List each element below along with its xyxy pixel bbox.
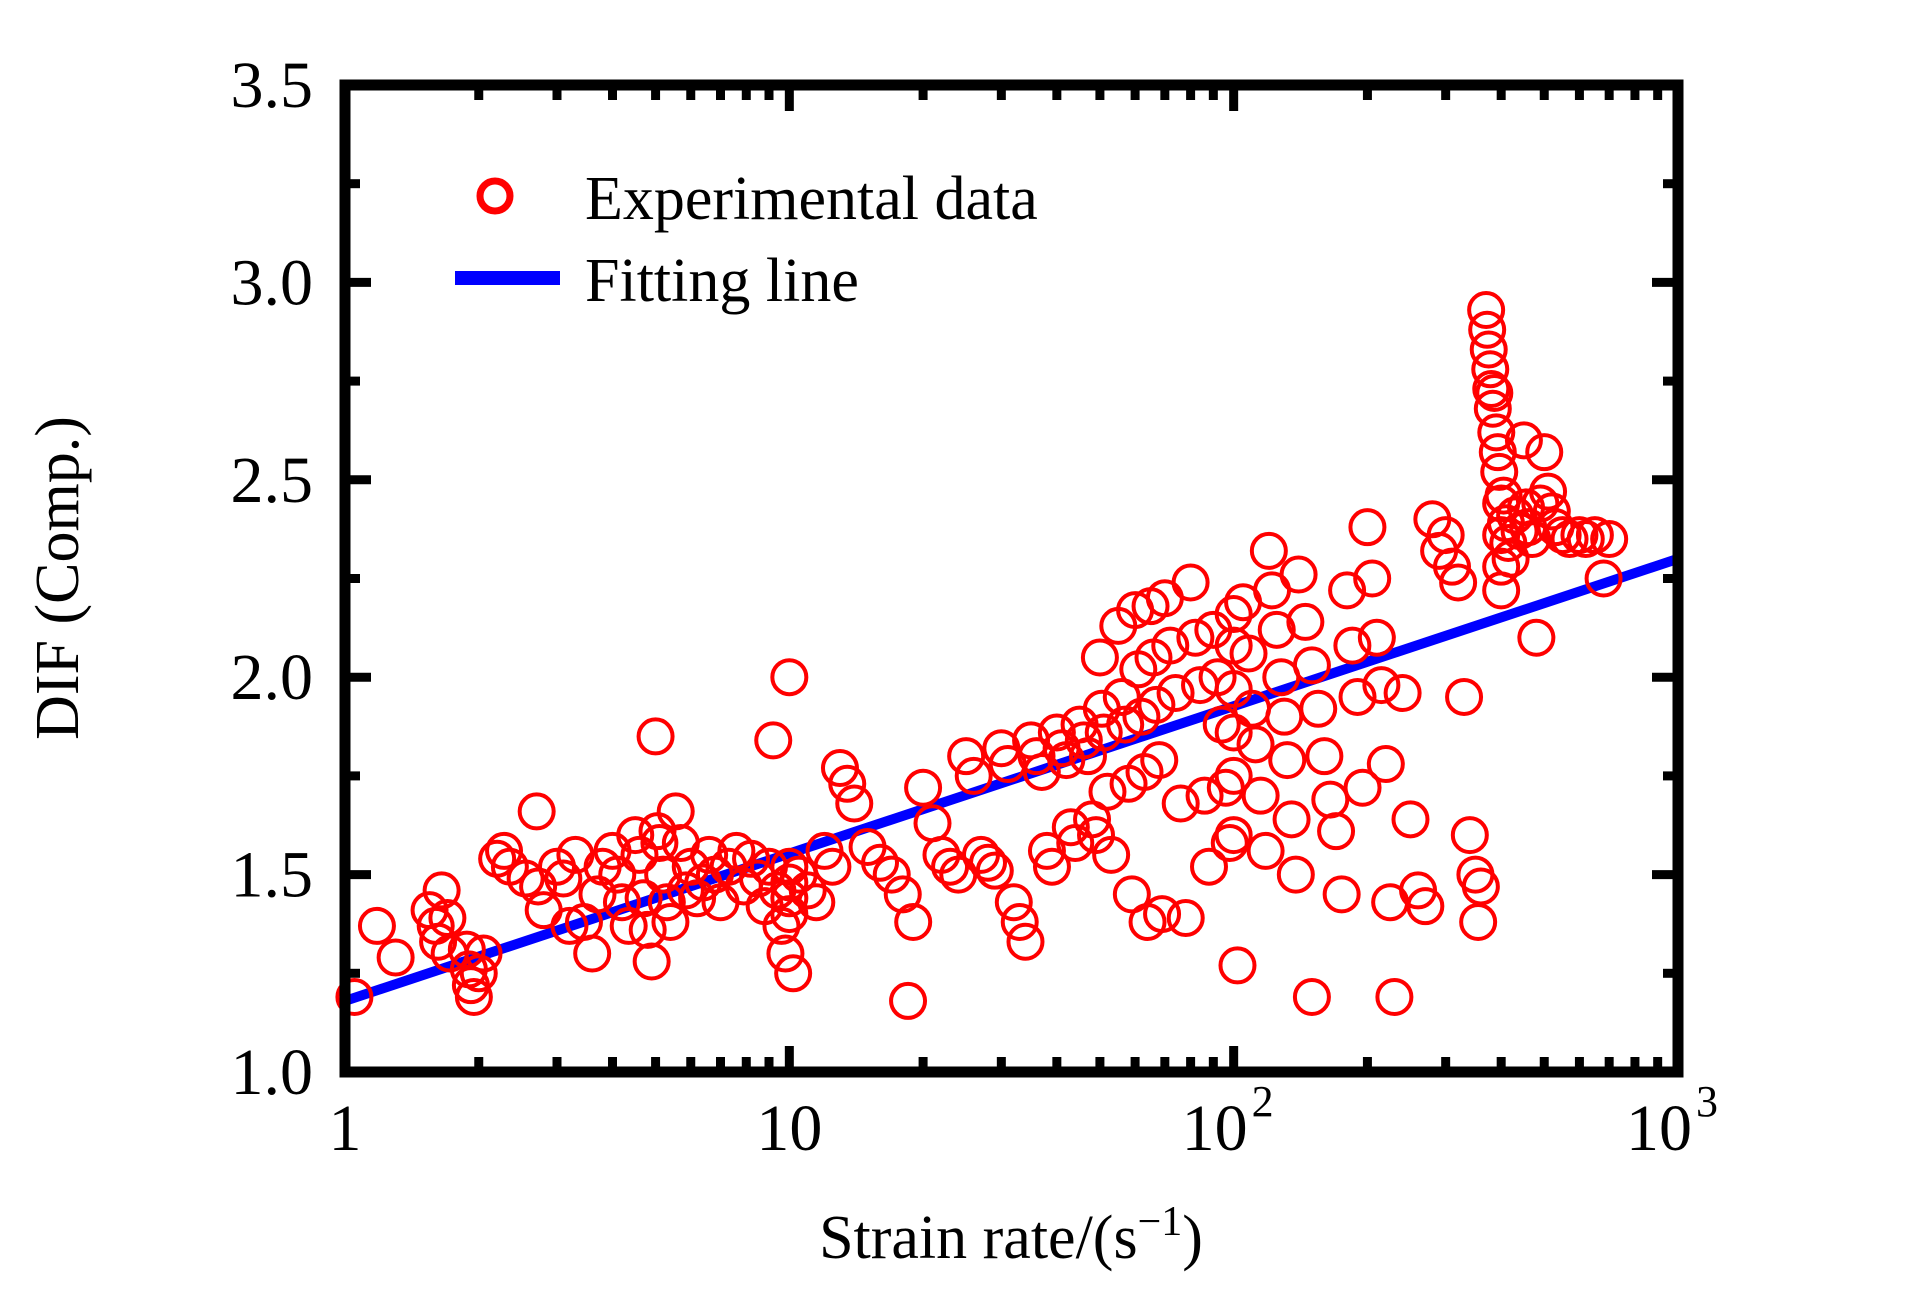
y-axis-title: DIF (Comp.) <box>24 416 92 740</box>
svg-text:2: 2 <box>1252 1077 1274 1126</box>
y-tick-label: 3.0 <box>231 246 314 319</box>
legend-label-fitting-line: Fitting line <box>585 247 859 315</box>
y-tick-label: 2.5 <box>231 444 314 517</box>
svg-text:3: 3 <box>1696 1077 1718 1126</box>
scatter-plot: 110210310 1.01.52.02.53.03.5 Strain rate… <box>0 0 1923 1299</box>
figure-container: 110210310 1.01.52.02.53.03.5 Strain rate… <box>0 0 1923 1299</box>
y-tick-label: 1.0 <box>231 1036 314 1109</box>
svg-text:10: 10 <box>756 1092 822 1165</box>
y-tick-label: 3.5 <box>231 49 314 122</box>
svg-text:1: 1 <box>329 1092 362 1165</box>
legend-label-experimental-data: Experimental data <box>585 165 1038 233</box>
svg-text:10: 10 <box>1626 1092 1692 1165</box>
y-tick-label: 2.0 <box>231 641 314 714</box>
y-tick-label: 1.5 <box>231 839 314 912</box>
x-tick-label: 1 <box>329 1092 362 1165</box>
svg-text:10: 10 <box>1182 1092 1248 1165</box>
x-tick-label: 10 <box>756 1092 822 1165</box>
